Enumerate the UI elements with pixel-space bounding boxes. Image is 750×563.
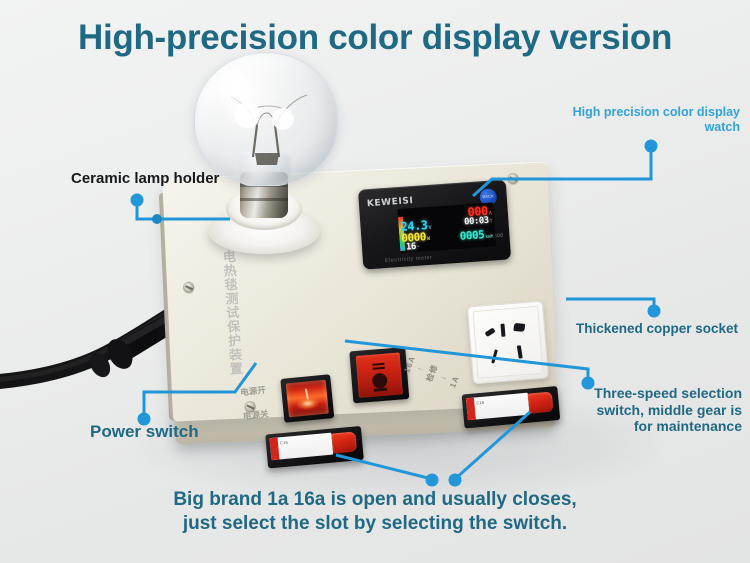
readout-temperature-unit: ° bbox=[417, 246, 420, 251]
product-annotation-image: High-precision color display version 电热毯… bbox=[0, 0, 750, 563]
readout-time: 00:03 T bbox=[464, 216, 493, 228]
breaker-right-label-text: C16 bbox=[476, 400, 484, 407]
selector-switch-rocker bbox=[356, 353, 403, 398]
screw-top-left bbox=[183, 282, 194, 293]
power-switch-printed-labels: 电源开 电源关 bbox=[228, 377, 281, 430]
socket-face bbox=[472, 306, 543, 379]
readout-time-unit: T bbox=[490, 220, 493, 225]
enclosure: 电热毯测试保护装置 KEWEISI KWS-AC300 Electricity … bbox=[162, 161, 559, 443]
digital-power-meter[interactable]: KEWEISI KWS-AC300 Electricity meter BACK… bbox=[358, 179, 511, 269]
readout-temperature: 16 ° bbox=[406, 242, 420, 253]
enclosure-top-face: 电热毯测试保护装置 KEWEISI KWS-AC300 Electricity … bbox=[162, 161, 558, 421]
socket-hole-center bbox=[500, 324, 505, 337]
breaker-left-lever[interactable] bbox=[331, 431, 357, 453]
breaker-left-label: C16 bbox=[270, 433, 334, 461]
socket-hole-left bbox=[485, 327, 496, 337]
readout-temperature-value: 16 bbox=[406, 242, 417, 253]
annotation-high-precision-watch: High precision color display watch bbox=[573, 105, 740, 135]
socket-hole-bottom-left bbox=[491, 349, 498, 363]
breaker-right-label-stripe bbox=[466, 398, 476, 421]
power-switch[interactable] bbox=[280, 374, 334, 423]
meter-subtitle: Electricity meter bbox=[385, 255, 433, 264]
page-title: High-precision color display version bbox=[0, 18, 750, 58]
annotation-power-switch: Power switch bbox=[90, 422, 199, 442]
meter-brand-label: KEWEISI bbox=[367, 196, 414, 209]
annotation-ceramic-lamp-holder: Ceramic lamp holder bbox=[71, 170, 219, 188]
annotation-breaker-caption: Big brand 1a 16a is open and usually clo… bbox=[0, 488, 750, 537]
selector-mark-top bbox=[372, 363, 384, 366]
breaker-left-label-stripe bbox=[270, 438, 280, 461]
breaker-left-label-text: C16 bbox=[280, 440, 288, 447]
screw-top-right bbox=[507, 173, 518, 184]
meter-back-button-label: BACK bbox=[480, 193, 497, 199]
enclosure-printed-text: 电热毯测试保护装置 bbox=[216, 250, 242, 377]
socket-hole-bottom-right bbox=[517, 345, 523, 358]
incandescent-bulb bbox=[194, 52, 338, 186]
readout-energy-value: 0005 bbox=[459, 228, 484, 243]
breaker-right-lever[interactable] bbox=[528, 392, 554, 414]
annotation-thickened-copper-socket: Thickened copper socket bbox=[576, 321, 738, 337]
copper-power-socket[interactable] bbox=[467, 300, 549, 384]
breaker-right-label: C16 bbox=[466, 393, 530, 421]
readout-energy: 0005 kWh bbox=[459, 227, 493, 242]
meter-lcd-screen: 000 A 24.3 V 00:03 T 0000 bbox=[397, 202, 496, 253]
readout-power-unit: W bbox=[427, 236, 430, 242]
readout-time-value: 00:03 bbox=[464, 216, 489, 228]
socket-hole-right bbox=[513, 323, 525, 332]
bulb-filament-icon bbox=[195, 53, 337, 185]
selector-mark-bottom bbox=[374, 388, 387, 392]
selector-mark-middle bbox=[372, 373, 388, 389]
readout-energy-unit: kWh bbox=[485, 234, 493, 240]
annotation-three-speed-switch: Three-speed selection switch, middle gea… bbox=[594, 385, 742, 435]
power-switch-rocker bbox=[286, 380, 329, 418]
